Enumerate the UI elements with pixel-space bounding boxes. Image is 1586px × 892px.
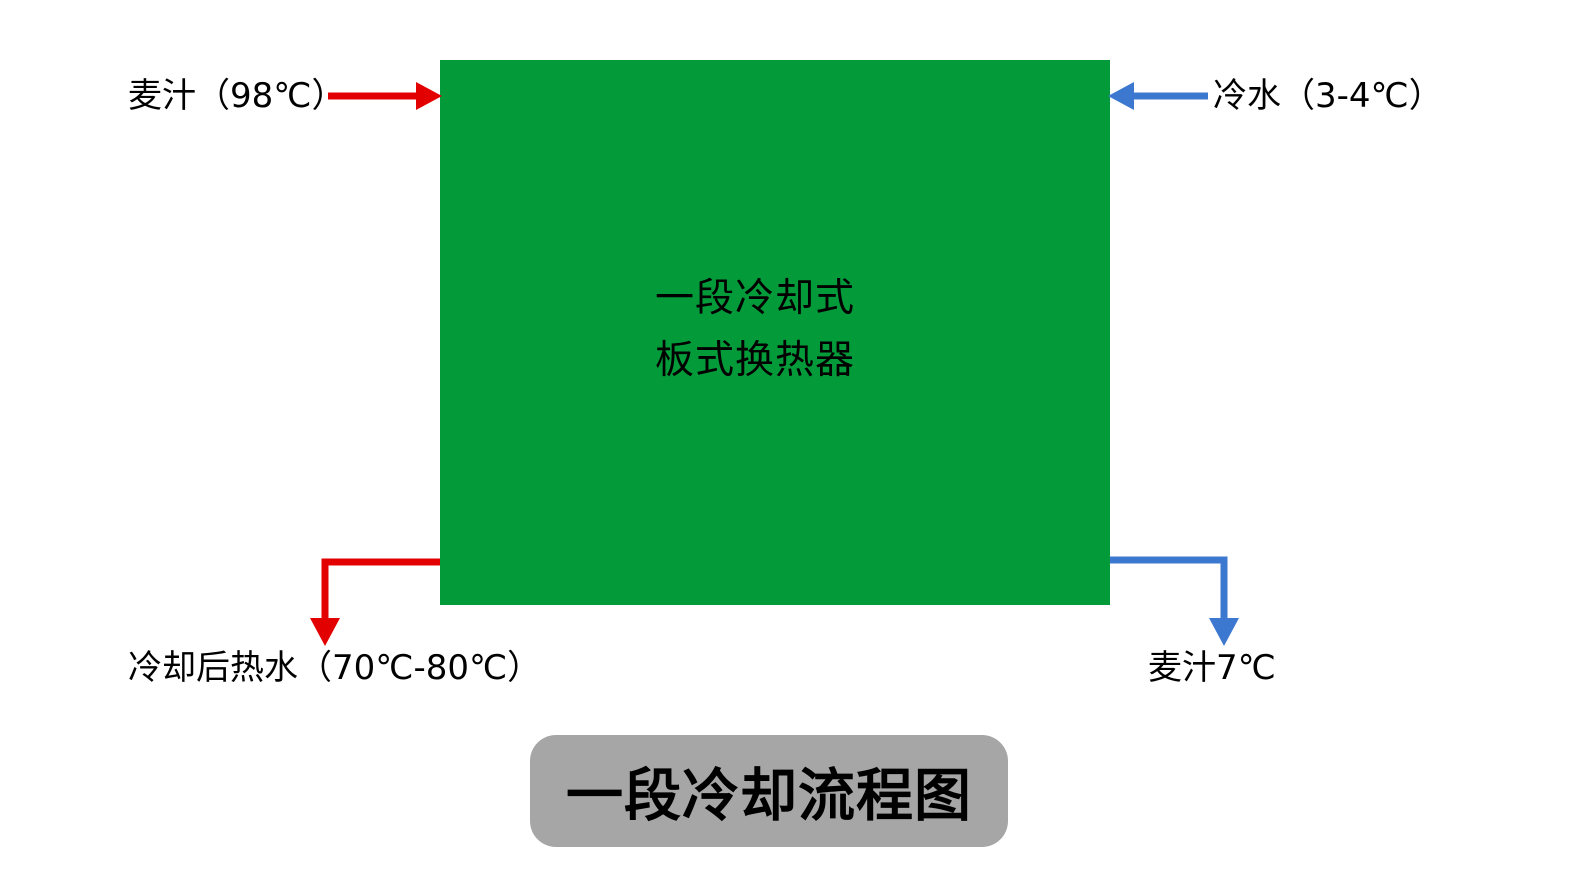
vessel-label-line1: 一段冷却式 [655,276,855,321]
vessel-label-line2: 板式换热器 [655,338,855,383]
cold-water-inlet-arrow [1108,82,1208,110]
wort-outlet-arrow [1110,560,1239,646]
stream-label-wort-inlet: 麦汁（98℃） [128,76,345,116]
stream-label-wort-outlet: 麦汁7℃ [1148,648,1276,688]
stream-label-cold-water-inlet: 冷水（3-4℃） [1213,76,1443,116]
stream-label-hot-water-outlet: 冷却后热水（70℃-80℃） [128,648,541,688]
vessel-label: 一段冷却式板式换热器 [440,268,1070,392]
title-banner: 一段冷却流程图 [530,735,1008,847]
hot-water-outlet-arrow [310,562,440,646]
flow-diagram-canvas: 一段冷却式板式换热器 麦汁（98℃） 冷水（3-4℃） 冷却后热水（70℃-80… [0,0,1586,892]
diagram-title: 一段冷却流程图 [566,750,972,832]
plate-heat-exchanger-vessel: 一段冷却式板式换热器 [440,60,1110,605]
